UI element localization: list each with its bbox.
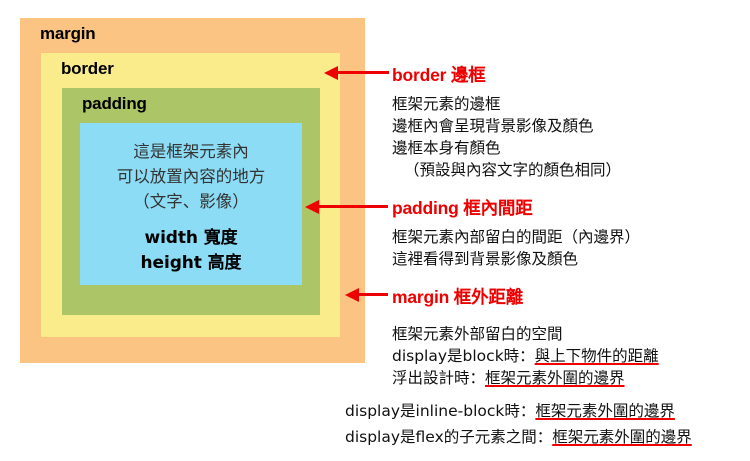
annotation-border: border 邊框 框架元素的邊框 邊框內會呈現背景影像及顏色 邊框本身有顏色 … [392,62,621,181]
annotation-margin-title: margin 框外距離 [392,284,659,309]
display-inline-block-emphasis: 框架元素外圍的邊界 [535,402,675,420]
annotation-margin-line-1: 框架元素外部留白的空間 [392,325,563,343]
content-width-label: width 寬度 [80,226,302,251]
annotation-margin-line-2-emphasis: 與上下物件的距離 [535,347,659,365]
content-height-label: height 高度 [80,251,302,276]
annotation-padding-line-2: 這裡看得到背景影像及顏色 [392,250,578,268]
annotation-margin-line-3-emphasis: 框架元素外圍的邊界 [485,369,625,387]
annotation-border-body: 框架元素的邊框 邊框內會呈現背景影像及顏色 邊框本身有顏色 （預設與內容文字的顏… [392,93,621,181]
display-mode-notes: display是inline-block時：框架元素外圍的邊界 display是… [345,398,692,450]
annotation-padding-body: 框架元素內部留白的間距（內邊界） 這裡看得到背景影像及顏色 [392,226,640,270]
annotation-margin-body: 框架元素外部留白的空間 display是block時：與上下物件的距離 浮出設計… [392,323,659,389]
border-box: border padding 這是框架元素內 可以放置內容的地方 （文字、影像）… [41,53,340,337]
arrow-to-border-icon [337,71,389,74]
annotation-border-title: border 邊框 [392,62,621,87]
margin-box-label: margin [40,24,95,44]
annotation-margin-line-3-prefix: 浮出設計時： [392,369,485,387]
content-line-3: （文字、影像） [133,192,249,211]
padding-box-label: padding [82,94,147,114]
annotation-border-line-4: （預設與內容文字的顏色相同） [392,159,621,181]
margin-box: margin border padding 這是框架元素內 可以放置內容的地方 … [20,18,365,363]
content-box-text: 這是框架元素內 可以放置內容的地方 （文字、影像） width 寬度 heigh… [80,139,302,276]
arrow-to-margin-icon [358,293,388,296]
border-box-label: border [61,59,114,79]
display-flex-emphasis: 框架元素外圍的邊界 [552,428,692,446]
arrow-to-padding-icon [318,205,388,208]
content-line-2: 可以放置內容的地方 [117,167,266,186]
annotation-padding: padding 框內間距 框架元素內部留白的間距（內邊界） 這裡看得到背景影像及… [392,195,640,270]
annotation-margin: margin 框外距離 框架元素外部留白的空間 display是block時：與… [392,284,659,389]
annotation-margin-line-2-prefix: display是block時： [392,347,535,365]
content-box: 這是框架元素內 可以放置內容的地方 （文字、影像） width 寬度 heigh… [80,123,302,285]
padding-box: padding 這是框架元素內 可以放置內容的地方 （文字、影像） width … [62,88,320,315]
annotation-border-line-1: 框架元素的邊框 [392,95,501,113]
display-inline-block-prefix: display是inline-block時： [345,402,535,420]
display-flex-prefix: display是flex的子元素之間： [345,428,552,446]
annotation-border-line-3: 邊框本身有顏色 [392,139,501,157]
annotation-padding-title: padding 框內間距 [392,195,640,220]
css-box-model-diagram: margin border padding 這是框架元素內 可以放置內容的地方 … [0,0,750,461]
display-inline-block-note: display是inline-block時：框架元素外圍的邊界 [345,398,692,424]
content-line-1: 這是框架元素內 [133,142,249,161]
annotation-border-line-2: 邊框內會呈現背景影像及顏色 [392,117,594,135]
display-flex-note: display是flex的子元素之間：框架元素外圍的邊界 [345,424,692,450]
annotation-padding-line-1: 框架元素內部留白的間距（內邊界） [392,228,640,246]
